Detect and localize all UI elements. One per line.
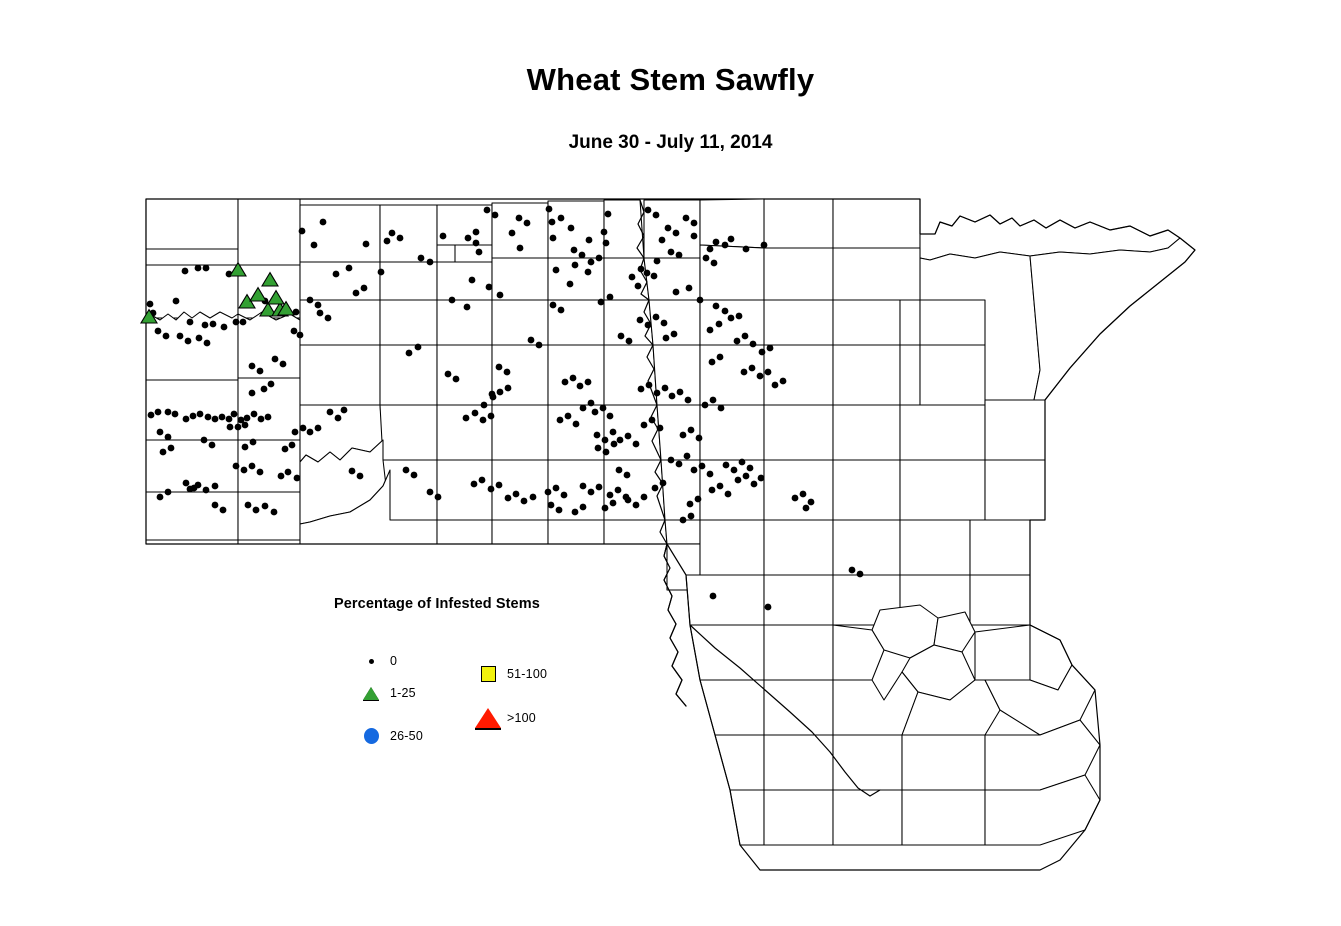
map-point-0 (221, 324, 228, 331)
legend-item-over-100: >100 (475, 708, 536, 728)
map-point-0 (349, 468, 356, 475)
map-point-0 (257, 368, 264, 375)
map-point-0 (415, 344, 422, 351)
map-point-0 (226, 416, 233, 423)
legend-item-51-100: 51-100 (475, 666, 547, 682)
map-point-0 (625, 433, 632, 440)
map-point-0 (722, 242, 729, 249)
map-point-0 (300, 425, 307, 432)
map-page: Wheat Stem Sawfly June 30 - July 11, 201… (0, 0, 1341, 926)
legend-label-over-100: >100 (507, 711, 536, 725)
map-point-0 (307, 297, 314, 304)
map-point-0 (660, 480, 667, 487)
map-point-0 (757, 373, 764, 380)
map-point-0 (536, 342, 543, 349)
map-point-0 (651, 273, 658, 280)
map-point-0 (562, 379, 569, 386)
map-point-0 (663, 335, 670, 342)
map-point-0 (750, 341, 757, 348)
map-point-0 (601, 229, 608, 236)
map-point-0 (227, 424, 234, 431)
map-point-0 (633, 502, 640, 509)
map-point-0 (603, 240, 610, 247)
map-point-0 (282, 446, 289, 453)
map-point-0 (258, 416, 265, 423)
map-point-0 (607, 294, 614, 301)
map-point-0 (808, 499, 815, 506)
map-point-0 (571, 247, 578, 254)
map-point-0 (160, 449, 167, 456)
map-point-0 (473, 240, 480, 247)
map-point-0 (196, 335, 203, 342)
map-point-0 (516, 215, 523, 222)
map-point-0 (496, 482, 503, 489)
map-point-0 (524, 220, 531, 227)
map-point-0 (644, 270, 651, 277)
map-point-0 (649, 417, 656, 424)
map-point-0 (427, 489, 434, 496)
map-point-0 (680, 517, 687, 524)
map-point-0 (327, 409, 334, 416)
map-point-0 (168, 445, 175, 452)
map-point-0 (603, 449, 610, 456)
map-point-0 (556, 507, 563, 514)
map-point-0 (654, 390, 661, 397)
map-point-0 (203, 265, 210, 272)
map-point-0 (427, 259, 434, 266)
map-point-0 (203, 487, 210, 494)
map-point-0 (484, 207, 491, 214)
map-point-0 (759, 349, 766, 356)
map-point-0 (249, 463, 256, 470)
map-point-0 (245, 502, 252, 509)
map-point-0 (653, 212, 660, 219)
map-point-0 (638, 266, 645, 273)
map-point-0 (592, 409, 599, 416)
map-point-0 (607, 413, 614, 420)
map-point-0 (182, 268, 189, 275)
map-point-0 (315, 425, 322, 432)
map-point-0 (565, 413, 572, 420)
map-point-0 (244, 415, 251, 422)
map-point-0 (294, 475, 301, 482)
map-point-0 (453, 376, 460, 383)
map-point-0 (736, 313, 743, 320)
map-point-0 (418, 255, 425, 262)
map-point-0 (513, 491, 520, 498)
map-point-0 (481, 402, 488, 409)
map-point-0 (550, 235, 557, 242)
legend: Percentage of Infested Stems 0 1-25 26-5… (330, 596, 595, 761)
map-point-0 (718, 405, 725, 412)
map-point-0 (155, 328, 162, 335)
map-point-0 (577, 383, 584, 390)
map-point-0 (616, 467, 623, 474)
map-point-0 (633, 441, 640, 448)
map-point-0 (596, 255, 603, 262)
map-point-0 (530, 494, 537, 501)
map-point-0 (261, 386, 268, 393)
map-point-0 (615, 487, 622, 494)
map-point-0 (363, 241, 370, 248)
map-point-0 (573, 421, 580, 428)
map-point-0 (173, 298, 180, 305)
map-point-0 (492, 212, 499, 219)
map-point-0 (233, 319, 240, 326)
map-point-0 (183, 416, 190, 423)
map-point-0 (488, 413, 495, 420)
map-point-0 (486, 284, 493, 291)
map-point-0 (561, 492, 568, 499)
map-point-0 (751, 481, 758, 488)
map-point-0 (610, 429, 617, 436)
map-point-0 (596, 484, 603, 491)
map-point-0 (278, 473, 285, 480)
small-black-dot-icon (358, 659, 384, 664)
map-point-0 (212, 502, 219, 509)
map-point-0 (607, 492, 614, 499)
map-point-0 (626, 338, 633, 345)
map-point-0 (588, 400, 595, 407)
map-point-0 (669, 393, 676, 400)
map-point-0 (707, 327, 714, 334)
map-point-0 (235, 424, 242, 431)
map-point-0 (488, 486, 495, 493)
map-point-0 (717, 354, 724, 361)
map-point-0 (723, 462, 730, 469)
map-point-0 (292, 429, 299, 436)
green-triangle-icon (358, 687, 384, 700)
map-point-0 (289, 442, 296, 449)
map-point-0 (725, 491, 732, 498)
map-point-0 (734, 338, 741, 345)
map-point-0 (262, 503, 269, 510)
yellow-square-icon (475, 666, 501, 682)
map-point-0 (464, 304, 471, 311)
legend-title: Percentage of Infested Stems (334, 596, 540, 612)
map-point-0 (548, 502, 555, 509)
map-point-0 (469, 277, 476, 284)
map-point-0 (465, 235, 472, 242)
map-point-0 (504, 369, 511, 376)
map-point-0 (749, 365, 756, 372)
map-point-0 (353, 290, 360, 297)
map-point-0 (471, 481, 478, 488)
legend-label-1-25: 1-25 (390, 686, 416, 700)
map-point-0 (165, 434, 172, 441)
map-point-0 (572, 262, 579, 269)
map-point-0 (212, 483, 219, 490)
map-point-0 (709, 487, 716, 494)
map-point-0 (165, 489, 172, 496)
map-point-0 (722, 308, 729, 315)
map-point-0 (148, 412, 155, 419)
map-point-0 (265, 414, 272, 421)
map-point-0 (579, 252, 586, 259)
map-point-0 (572, 509, 579, 516)
map-point-0 (629, 274, 636, 281)
map-point-0 (713, 239, 720, 246)
map-point-0 (691, 233, 698, 240)
map-point-0 (397, 235, 404, 242)
map-point-0 (497, 292, 504, 299)
map-point-0 (403, 467, 410, 474)
map-point-0 (147, 301, 154, 308)
map-point-0 (291, 328, 298, 335)
map-point-0 (696, 435, 703, 442)
map-point-0 (165, 409, 172, 416)
map-point-0 (190, 413, 197, 420)
map-point-0 (585, 269, 592, 276)
map-point-0 (195, 265, 202, 272)
map-point-0 (739, 459, 746, 466)
map-point-0 (691, 220, 698, 227)
map-point-0 (635, 283, 642, 290)
map-point-0 (205, 414, 212, 421)
map-point-0 (389, 230, 396, 237)
map-point-0 (662, 385, 669, 392)
map-point-0 (602, 505, 609, 512)
map-point-0 (668, 249, 675, 256)
map-point-0 (157, 494, 164, 501)
map-point-0 (680, 432, 687, 439)
blue-circle-icon (358, 728, 384, 744)
map-point-0 (580, 504, 587, 511)
map-point-0 (307, 429, 314, 436)
map-point-0 (659, 237, 666, 244)
map-point-0 (242, 444, 249, 451)
map-point-0 (411, 472, 418, 479)
red-triangle-icon (475, 708, 501, 728)
map-point-0 (605, 211, 612, 218)
map-point-0 (558, 215, 565, 222)
map-point-0 (610, 500, 617, 507)
legend-item-1-25: 1-25 (358, 686, 416, 700)
map-point-0 (580, 483, 587, 490)
map-point-0 (728, 315, 735, 322)
map-point-0 (219, 414, 226, 421)
map-point-0 (684, 453, 691, 460)
map-point-0 (445, 371, 452, 378)
map-point-0 (588, 259, 595, 266)
map-point-0 (728, 236, 735, 243)
map-point-0 (233, 463, 240, 470)
map-point-0 (489, 391, 496, 398)
map-point-0 (476, 249, 483, 256)
map-point-0 (249, 363, 256, 370)
map-point-0 (378, 269, 385, 276)
map-point-0 (703, 255, 710, 262)
map-point-0 (272, 356, 279, 363)
map-point-0 (758, 475, 765, 482)
map-point-0 (187, 319, 194, 326)
map-point-0 (688, 427, 695, 434)
map-point-0 (197, 411, 204, 418)
map-point-0 (657, 425, 664, 432)
map-point-0 (172, 411, 179, 418)
map-point-0 (685, 397, 692, 404)
map-point-0 (163, 333, 170, 340)
map-point-0 (717, 483, 724, 490)
map-point-0 (780, 378, 787, 385)
map-point-0 (253, 507, 260, 514)
map-point-0 (202, 322, 209, 329)
map-point-0 (335, 415, 342, 422)
map-point-0 (472, 410, 479, 417)
map-point-0 (645, 207, 652, 214)
legend-label-51-100: 51-100 (507, 667, 547, 681)
map-point-0 (625, 497, 632, 504)
map-point-0 (209, 442, 216, 449)
map-point-0 (440, 233, 447, 240)
map-point-0 (210, 321, 217, 328)
map-point-0 (707, 471, 714, 478)
map-point-0 (505, 495, 512, 502)
map-point-0 (517, 245, 524, 252)
map-point-0 (299, 228, 306, 235)
map-point-0 (671, 331, 678, 338)
map-point-0 (857, 571, 864, 578)
map-point-0 (654, 258, 661, 265)
map-point-0 (558, 307, 565, 314)
map-point-0 (731, 467, 738, 474)
map-point-0 (697, 297, 704, 304)
map-point-0 (618, 333, 625, 340)
map-point-0 (767, 345, 774, 352)
map-point-0 (711, 260, 718, 267)
map-point-0 (637, 317, 644, 324)
map-point-0 (686, 285, 693, 292)
map-canvas (0, 0, 1341, 926)
map-point-0 (741, 369, 748, 376)
map-point-0 (285, 469, 292, 476)
map-point-0 (709, 359, 716, 366)
map-point-0 (761, 242, 768, 249)
map-point-0 (677, 389, 684, 396)
map-point-0 (449, 297, 456, 304)
legend-item-26-50: 26-50 (358, 728, 423, 744)
map-point-0 (743, 473, 750, 480)
map-point-0 (691, 467, 698, 474)
map-point-0 (567, 281, 574, 288)
legend-label-0: 0 (390, 654, 397, 668)
map-point-0 (546, 206, 553, 213)
map-point-0 (702, 402, 709, 409)
map-point-0 (155, 409, 162, 416)
map-point-0 (580, 405, 587, 412)
map-point-0 (645, 322, 652, 329)
map-point-0 (341, 407, 348, 414)
map-point-0 (595, 445, 602, 452)
map-point-0 (212, 416, 219, 423)
map-point-0 (185, 338, 192, 345)
map-point-0 (357, 473, 364, 480)
map-point-0 (268, 381, 275, 388)
map-point-0 (695, 496, 702, 503)
map-point-0 (315, 302, 322, 309)
map-point-0 (687, 501, 694, 508)
map-point-0 (251, 411, 258, 418)
map-point-0 (772, 382, 779, 389)
map-point-0 (676, 252, 683, 259)
map-point-0 (249, 390, 256, 397)
map-point-0 (333, 271, 340, 278)
minnesota-counties (644, 199, 1195, 870)
map-point-0 (652, 485, 659, 492)
map-point-0 (201, 437, 208, 444)
map-point-0 (317, 310, 324, 317)
map-point-0 (765, 369, 772, 376)
map-point-0 (661, 320, 668, 327)
map-point-0 (735, 477, 742, 484)
map-point-0 (549, 219, 556, 226)
map-point-0 (611, 441, 618, 448)
map-point-0 (557, 417, 564, 424)
map-point-0 (250, 439, 257, 446)
map-point-0 (320, 219, 327, 226)
map-point-0 (361, 285, 368, 292)
map-point-0 (241, 467, 248, 474)
map-point-0 (742, 333, 749, 340)
map-point-0 (710, 593, 717, 600)
map-point-0 (585, 379, 592, 386)
map-point-0 (665, 225, 672, 232)
map-point-0 (435, 494, 442, 501)
map-point-0 (497, 389, 504, 396)
map-point-0 (710, 397, 717, 404)
map-point-0 (231, 411, 238, 418)
map-point-0 (716, 321, 723, 328)
map-point-0 (505, 385, 512, 392)
map-point-0 (550, 302, 557, 309)
map-point-0 (280, 361, 287, 368)
map-point-0 (528, 337, 535, 344)
map-point-0 (568, 225, 575, 232)
map-point-0 (242, 422, 249, 429)
map-point-0 (803, 505, 810, 512)
map-point-0 (480, 417, 487, 424)
map-point-0 (521, 498, 528, 505)
map-point-0 (553, 267, 560, 274)
map-point-0 (594, 432, 601, 439)
map-point-0 (220, 507, 227, 514)
map-point-0 (183, 480, 190, 487)
map-point-0 (257, 469, 264, 476)
map-point-0 (553, 485, 560, 492)
map-point-0 (646, 382, 653, 389)
map-point-0 (688, 513, 695, 520)
map-point-0 (509, 230, 516, 237)
map-point-0 (707, 246, 714, 253)
map-point-0 (479, 477, 486, 484)
map-point-0 (683, 215, 690, 222)
map-point-0 (598, 299, 605, 306)
map-point-0 (473, 229, 480, 236)
county-map-svg (0, 0, 1341, 926)
map-point-0 (157, 429, 164, 436)
map-point-0 (743, 246, 750, 253)
map-point-0 (545, 489, 552, 496)
map-point-0 (668, 457, 675, 464)
map-point-0 (463, 415, 470, 422)
map-point-0 (586, 237, 593, 244)
map-point-0 (177, 333, 184, 340)
map-point-0 (747, 465, 754, 472)
map-point-0 (638, 386, 645, 393)
map-point-0 (311, 242, 318, 249)
map-point-0 (653, 314, 660, 321)
map-point-0 (602, 437, 609, 444)
